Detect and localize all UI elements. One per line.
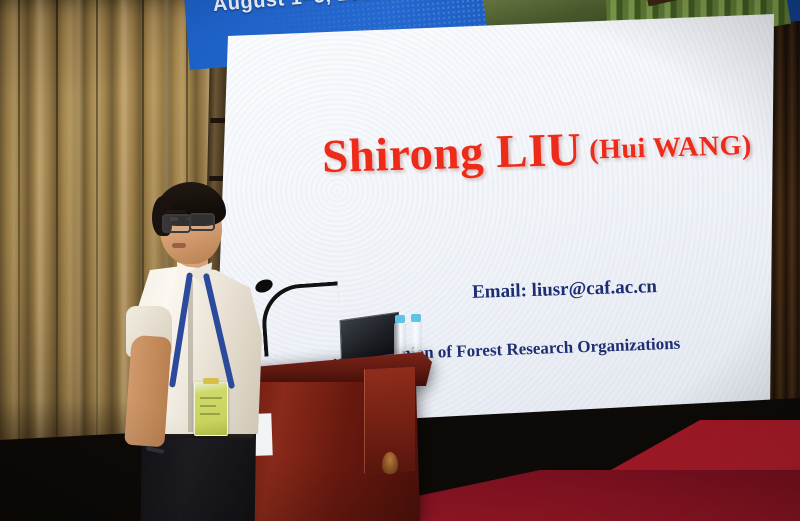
- speaker-person: [132, 186, 262, 521]
- glasses-bridge: [186, 218, 191, 220]
- podium: [236, 352, 432, 521]
- conference-badge: [194, 382, 228, 436]
- slide-name-main: Shirong LIU: [321, 124, 582, 183]
- slide-coauthor: (Hui WANG): [589, 130, 752, 166]
- photo-scene: August 1–5, 2018, Shenyang 研讨会 on Protec…: [0, 0, 800, 521]
- speaker-arm-left: [124, 335, 172, 448]
- podium-emblem: [382, 452, 398, 474]
- gooseneck-microphone: [262, 284, 336, 356]
- speaker-eyebrow: [166, 210, 186, 213]
- glasses-lens-right: [189, 213, 215, 231]
- glasses-lens-left: [162, 214, 191, 233]
- speaker-mouth: [172, 243, 186, 248]
